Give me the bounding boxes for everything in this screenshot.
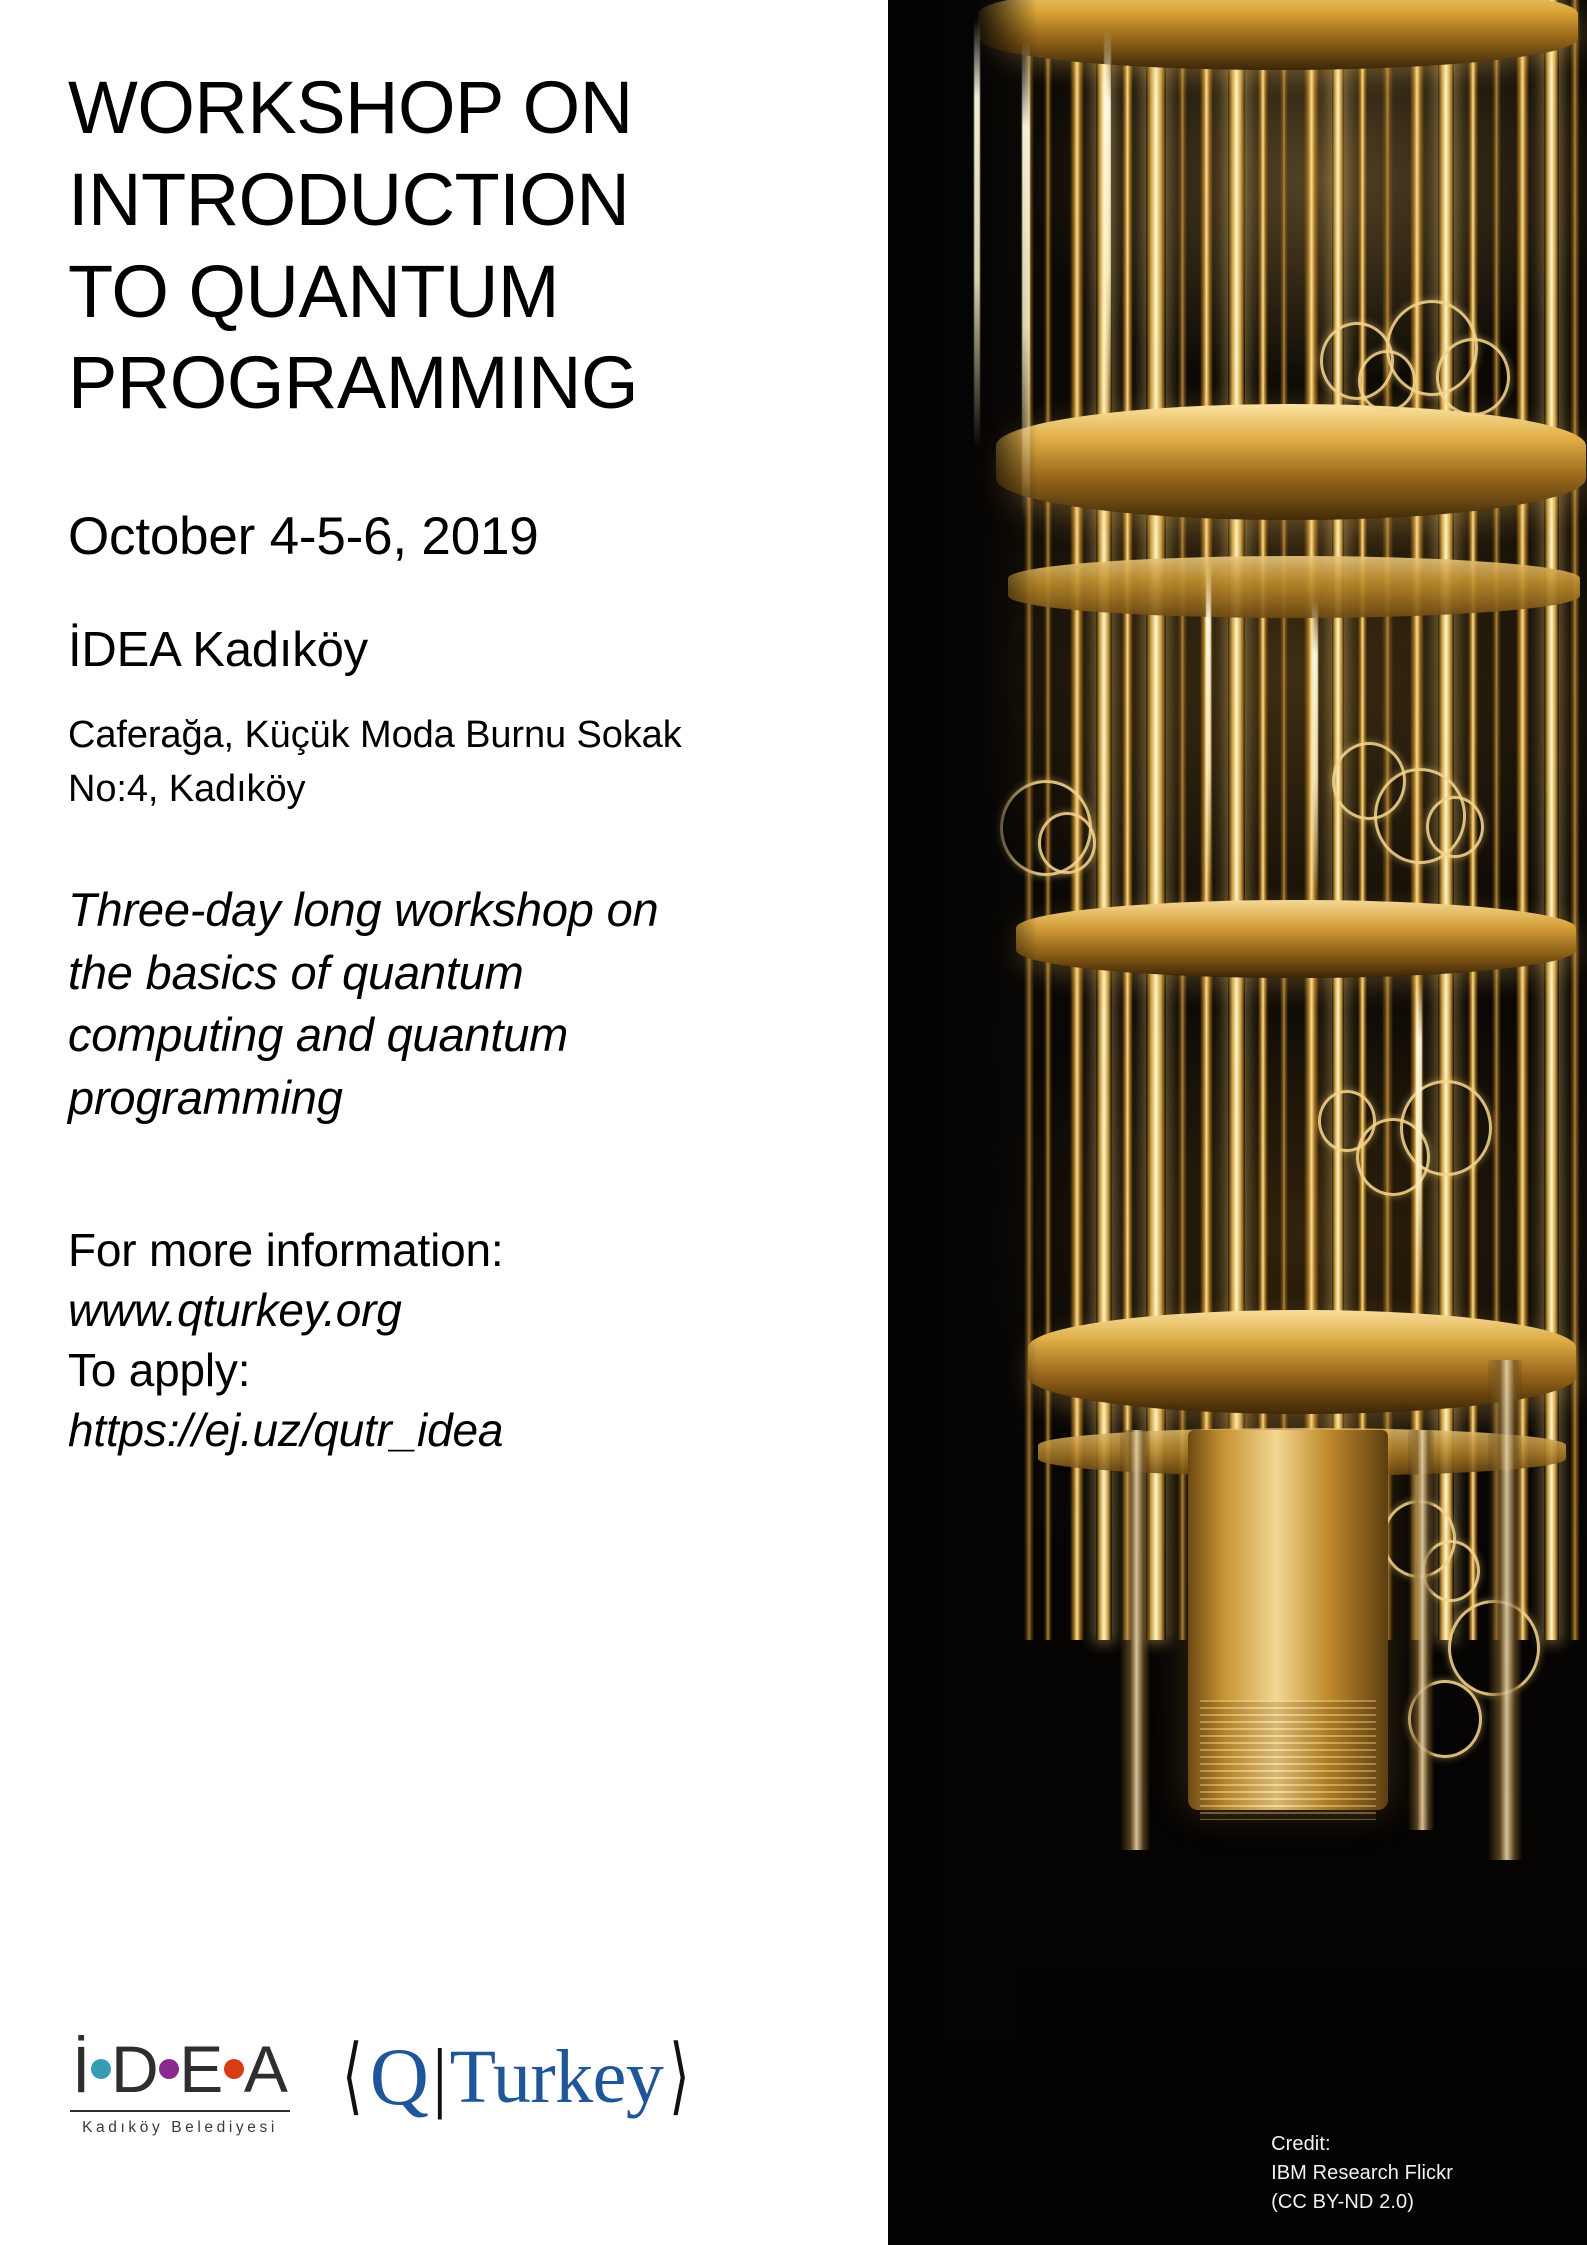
idea-letter-a: A — [244, 2036, 288, 2102]
qturkey-q-letter: Q — [370, 2038, 429, 2116]
gold-plate — [978, 0, 1578, 70]
idea-letters: İ D E A — [70, 2033, 290, 2105]
light-streak — [1416, 980, 1422, 1310]
address-line-1: Caferağa, Küçük Moda Burnu Sokak — [68, 709, 888, 763]
gold-plate — [1008, 556, 1580, 618]
idea-dot-purple — [159, 2059, 179, 2079]
support-pillar — [1488, 1360, 1522, 1860]
event-description: Three-day long workshop on the basics of… — [68, 879, 888, 1129]
light-streak — [974, 20, 980, 450]
text-panel: WORKSHOP ON INTRODUCTION TO QUANTUM PROG… — [0, 0, 888, 2245]
idea-kadikoy-logo: İ D E A Kadıköy Belediyesi — [70, 2033, 290, 2137]
title-line-2: INTRODUCTION — [68, 154, 888, 246]
address-line-2: No:4, Kadıköy — [68, 763, 888, 817]
light-streak — [1104, 30, 1111, 430]
qturkey-close-bracket: ⟩ — [670, 2039, 690, 2115]
qturkey-wordmark: Turkey — [450, 2040, 664, 2114]
photo-left-shadow — [888, 0, 1038, 2245]
title-line-1: WORKSHOP ON — [68, 62, 888, 154]
venue-address: Caferağa, Küçük Moda Burnu Sokak No:4, K… — [68, 709, 888, 817]
venue-name: İDEA Kadıköy — [68, 621, 888, 680]
photo-credit: Credit: IBM Research Flickr (CC BY-ND 2.… — [1271, 2130, 1453, 2217]
gold-plate — [996, 404, 1586, 520]
qturkey-open-bracket: ⟨ — [342, 2039, 362, 2115]
description-line-3: computing and quantum — [68, 1004, 888, 1067]
wire-coil — [1426, 796, 1484, 858]
title-line-3: TO QUANTUM — [68, 246, 888, 338]
event-date: October 4-5-6, 2019 — [68, 505, 888, 569]
qturkey-logo: ⟨ Q | Turkey ⟩ — [336, 2031, 696, 2123]
idea-dot-teal — [91, 2059, 111, 2079]
poster-title: WORKSHOP ON INTRODUCTION TO QUANTUM PROG… — [68, 62, 888, 429]
apply-label: To apply: — [68, 1341, 888, 1401]
wire-coil — [1038, 812, 1096, 874]
support-pillar — [1408, 1430, 1434, 1830]
logo-row: İ D E A Kadıköy Belediyesi ⟨ Q | Turkey … — [70, 2031, 696, 2137]
support-pillar — [1120, 1430, 1150, 1850]
contact-info: For more information: www.qturkey.org To… — [68, 1221, 888, 1460]
light-streak — [1312, 600, 1318, 900]
qturkey-bar: | — [432, 2040, 448, 2114]
idea-subtitle: Kadıköy Belediyesi — [70, 2119, 290, 2137]
rod — [1570, 0, 1580, 1640]
idea-letter-i: İ — [72, 2036, 90, 2102]
poster-root: WORKSHOP ON INTRODUCTION TO QUANTUM PROG… — [0, 0, 1587, 2245]
wire-coil — [1400, 1080, 1492, 1176]
rod — [1544, 0, 1559, 1640]
website-link[interactable]: www.qturkey.org — [68, 1281, 888, 1341]
description-line-2: the basics of quantum — [68, 942, 888, 1005]
credit-line-2: IBM Research Flickr — [1271, 2159, 1453, 2188]
quantum-computer-photo: Credit: IBM Research Flickr (CC BY-ND 2.… — [888, 0, 1587, 2245]
wire-coil — [1436, 338, 1510, 416]
credit-line-3: (CC BY-ND 2.0) — [1271, 2188, 1453, 2217]
idea-letter-e: E — [179, 2036, 223, 2102]
photo-bottom-shadow — [888, 1915, 1587, 2245]
light-streak — [1022, 40, 1030, 520]
more-info-label: For more information: — [68, 1221, 888, 1281]
idea-divider — [70, 2110, 290, 2112]
apply-link[interactable]: https://ej.uz/qutr_idea — [68, 1401, 888, 1461]
idea-letter-d: D — [111, 2036, 159, 2102]
description-line-1: Three-day long workshop on — [68, 879, 888, 942]
light-streak — [1206, 560, 1211, 900]
idea-dot-red — [224, 2059, 244, 2079]
credit-line-1: Credit: — [1271, 2130, 1453, 2159]
title-line-4: PROGRAMMING — [68, 337, 888, 429]
description-line-4: programming — [68, 1067, 888, 1130]
lower-grill — [1200, 1700, 1376, 1820]
gold-plate — [1016, 900, 1576, 978]
